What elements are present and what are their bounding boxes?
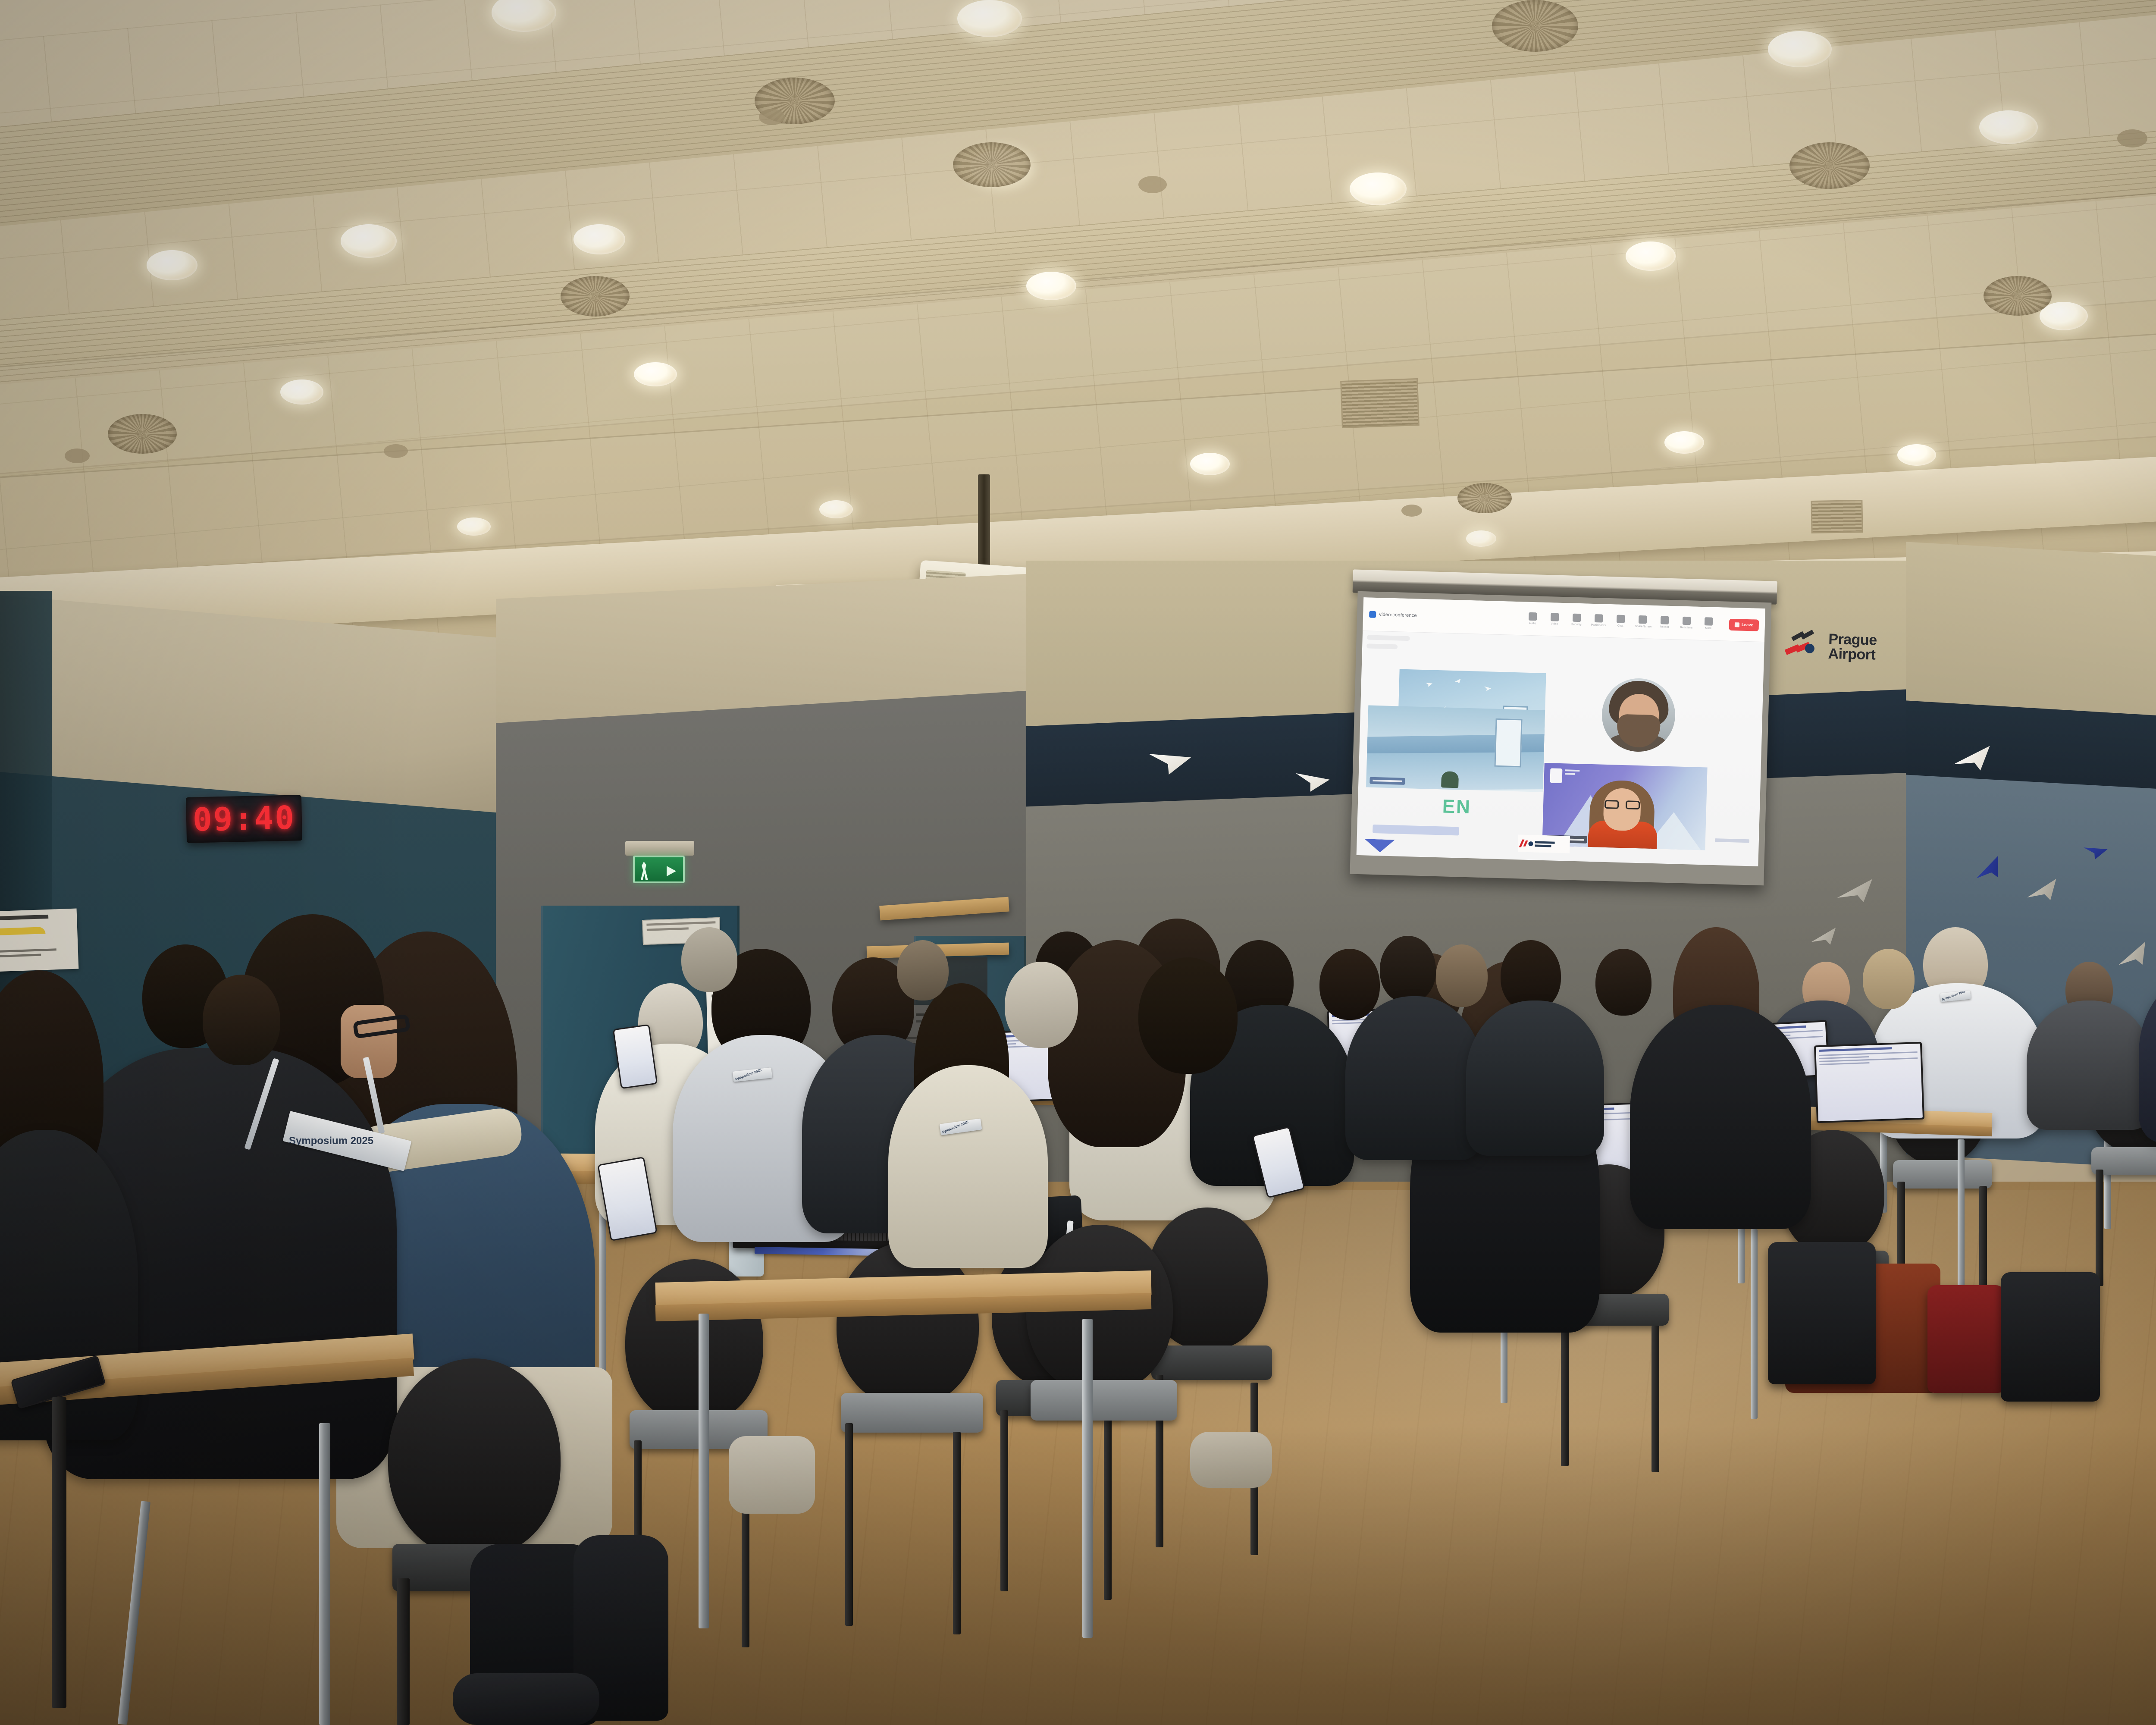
attendee-head — [1436, 944, 1488, 1007]
smoke-detector — [759, 109, 785, 125]
ceiling-downlight — [1190, 453, 1230, 475]
table-leg — [52, 1397, 66, 1708]
arrow-right-icon — [667, 866, 676, 876]
chair-seat[interactable] — [841, 1393, 983, 1433]
attendee-shoe — [729, 1436, 815, 1514]
glasses-icon — [1604, 800, 1641, 809]
table-leg — [1082, 1319, 1093, 1638]
smoke-detector — [384, 444, 408, 458]
attendee-head — [1138, 957, 1238, 1074]
meeting-title: video-conference — [1369, 611, 1417, 619]
chair-seat[interactable] — [1031, 1380, 1177, 1421]
air-diffuser — [561, 276, 630, 317]
ceiling-downlight — [147, 250, 197, 280]
attendee-head — [1863, 949, 1915, 1009]
chair-leg — [953, 1432, 961, 1634]
ceiling-downlight — [280, 379, 323, 405]
backpack[interactable] — [1927, 1285, 2005, 1393]
laptop-screen[interactable] — [1814, 1042, 1924, 1123]
air-diffuser — [108, 414, 177, 454]
toolbar-button-participants[interactable]: Participants — [1591, 614, 1606, 627]
venue-logo: Prague Airport — [1785, 630, 1877, 662]
ceiling-vent-grille — [1340, 378, 1420, 428]
chair-back-foreground[interactable] — [388, 1358, 561, 1557]
attendee-torso — [2027, 1000, 2152, 1130]
app-logo-icon — [1369, 611, 1376, 618]
record-icon — [1660, 616, 1669, 624]
attendee-head — [1005, 962, 1078, 1048]
slide-caption-bar — [1373, 825, 1459, 836]
attendee-head — [1380, 936, 1436, 1003]
conference-hall-photo: video-conference Audio Video Security — [0, 0, 2156, 1725]
chair-leg — [2096, 1170, 2103, 1286]
air-diffuser — [1984, 276, 2052, 316]
air-diffuser — [1789, 142, 1870, 189]
backpack[interactable] — [2001, 1272, 2100, 1402]
chair-leg — [1561, 1320, 1569, 1466]
air-diffuser — [953, 142, 1031, 187]
smoke-detector — [1138, 176, 1167, 193]
table-leg — [319, 1423, 330, 1725]
app-title-text: video-conference — [1379, 612, 1417, 618]
ceiling-downlight — [1026, 272, 1076, 300]
venue-logo-line1: Prague — [1828, 632, 1877, 648]
shield-icon — [1573, 614, 1581, 622]
toolbar-button-reactions[interactable]: Reactions — [1679, 617, 1694, 630]
attendee-head — [1319, 949, 1380, 1020]
chair-leg — [845, 1423, 853, 1626]
air-diffuser — [1492, 0, 1578, 52]
ceiling-downlight — [634, 362, 677, 386]
smoke-detector — [65, 448, 90, 463]
paper-airplane-logo-mark — [1785, 632, 1822, 659]
attendee-torso — [888, 1065, 1048, 1268]
table-leg — [1751, 1229, 1758, 1419]
digital-wall-clock: 09:40 — [186, 795, 302, 843]
more-icon — [1704, 617, 1713, 626]
chat-icon — [1616, 615, 1625, 623]
exit-sign — [633, 856, 685, 883]
toolbar-button-security[interactable]: Security — [1569, 613, 1584, 626]
attendee-shoe — [453, 1673, 599, 1725]
projected-image: video-conference Audio Video Security — [1357, 597, 1765, 866]
chair-leg — [397, 1578, 410, 1725]
air-diffuser — [1457, 483, 1512, 513]
video-tile-room-wide[interactable] — [1366, 706, 1545, 792]
mic-icon — [1529, 612, 1537, 621]
attendee-head — [1595, 949, 1651, 1016]
backpack[interactable] — [1768, 1242, 1876, 1384]
chair-seat[interactable] — [1151, 1345, 1272, 1380]
camera-icon — [1551, 613, 1559, 621]
virtual-background-logo — [1550, 768, 1562, 783]
attendee-torso — [1345, 996, 1483, 1160]
attendee-shoe — [1190, 1432, 1272, 1488]
leave-meeting-button[interactable]: Leave — [1729, 619, 1759, 631]
ceiling-downlight — [1768, 31, 1832, 67]
ceiling-downlight — [1897, 444, 1936, 466]
video-tile-remote-avatar[interactable] — [1601, 677, 1677, 753]
participants-icon — [1594, 614, 1603, 623]
exit-sign-housing — [625, 841, 694, 856]
attendee-head — [203, 975, 280, 1065]
smoke-detector — [1401, 505, 1422, 517]
smoke-detector — [2117, 129, 2147, 147]
slide-venue-logo — [1518, 834, 1570, 853]
toolbar-button-record[interactable]: Record — [1657, 616, 1672, 629]
ceiling-downlight — [1664, 431, 1704, 454]
attendee-torso — [1466, 1000, 1604, 1156]
meeting-sidebar-stub — [1362, 631, 1414, 658]
projection-screen: video-conference Audio Video Security — [1350, 572, 1772, 886]
chair-leg — [1651, 1326, 1659, 1472]
meeting-toolbar-buttons: Audio Video Security Participants — [1525, 612, 1759, 631]
slide-footer-text — [1715, 838, 1749, 843]
attendee-torso — [1630, 1005, 1811, 1229]
table-leg — [1958, 1139, 1965, 1299]
ceiling-downlight — [1979, 110, 2038, 144]
projector-mount-pole — [978, 474, 990, 571]
toolbar-button-audio[interactable]: Audio — [1525, 612, 1540, 625]
wall-poster-left — [0, 909, 78, 972]
share-screen-icon — [1638, 615, 1647, 624]
chair-leg — [1104, 1419, 1112, 1600]
ceiling-downlight — [457, 517, 491, 536]
phone-hangup-icon — [1735, 622, 1739, 627]
table-leg — [699, 1314, 709, 1628]
ceiling-downlight — [2040, 302, 2088, 330]
ceiling-downlight — [1466, 530, 1496, 547]
toolbar-button-more[interactable]: More — [1701, 617, 1716, 630]
slide-swoosh-graphic — [1364, 839, 1395, 853]
clock-time-text: 09:40 — [192, 802, 295, 836]
ceiling-downlight — [573, 224, 625, 254]
toolbar-button-video[interactable]: Video — [1547, 613, 1562, 626]
ceiling-downlight — [1350, 172, 1407, 205]
language-badge: EN — [1442, 796, 1471, 818]
chair-leg — [1000, 1410, 1008, 1591]
ceiling-downlight — [341, 224, 397, 258]
ceiling-downlight — [819, 500, 853, 518]
ceiling-downlight — [1626, 241, 1676, 271]
reactions-icon — [1682, 617, 1691, 625]
venue-logo-line2: Airport — [1828, 646, 1877, 662]
attendee-head — [897, 940, 949, 1000]
chair-seat[interactable] — [1893, 1160, 1992, 1189]
attendee-head — [681, 927, 737, 992]
video-tile-name-label — [1369, 777, 1405, 785]
toolbar-button-chat[interactable]: Chat — [1613, 615, 1628, 627]
toolbar-button-share-screen[interactable]: Share Screen — [1635, 615, 1650, 628]
ceiling-vent-grille — [1811, 500, 1863, 533]
ceiling-downlight — [957, 0, 1022, 37]
